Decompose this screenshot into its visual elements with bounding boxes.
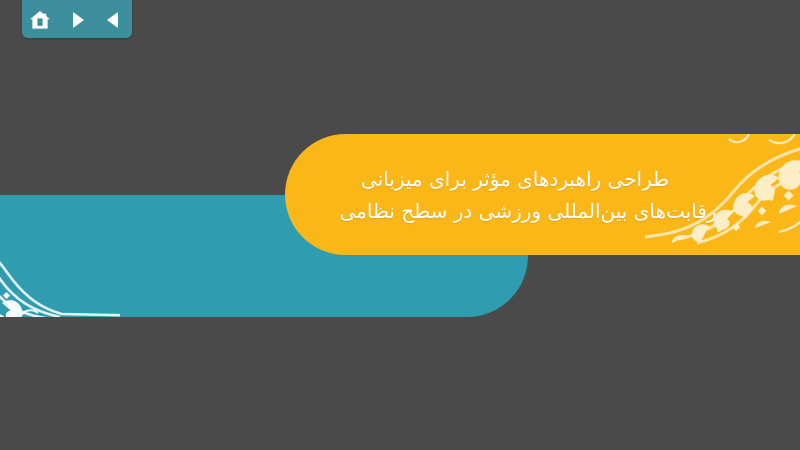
triangle-left-icon bbox=[104, 10, 124, 30]
page-title: طراحی راهبردهای مؤثر برای میزبانی رقابت‌… bbox=[305, 134, 725, 255]
navigation-bar bbox=[22, 0, 132, 38]
slide-canvas: طراحی راهبردهای مؤثر برای میزبانی رقابت‌… bbox=[0, 0, 800, 450]
home-button[interactable] bbox=[27, 7, 53, 33]
next-slide-button[interactable] bbox=[64, 7, 90, 33]
home-icon bbox=[29, 10, 51, 31]
previous-slide-button[interactable] bbox=[101, 7, 127, 33]
teal-arabesque-ornament bbox=[0, 195, 120, 317]
title-line-1: طراحی راهبردهای مؤثر برای میزبانی bbox=[361, 164, 669, 194]
title-banner: طراحی راهبردهای مؤثر برای میزبانی رقابت‌… bbox=[285, 134, 800, 255]
triangle-right-icon bbox=[67, 10, 87, 30]
title-line-2: رقابت‌های بین‌المللی ورزشی در سطح نظامی bbox=[339, 196, 716, 226]
